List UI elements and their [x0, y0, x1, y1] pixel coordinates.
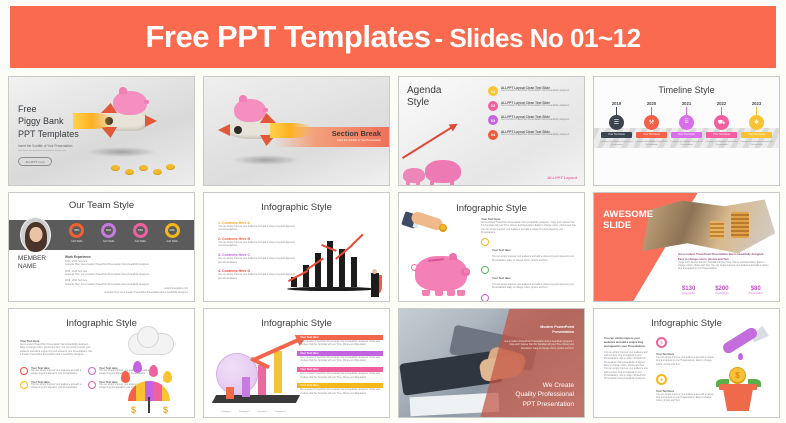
member-name-line-2: NAME	[18, 263, 46, 271]
flower-pot-rim	[719, 384, 757, 390]
ribbon-body: Get a modern PowerPoint Presentation tha…	[297, 340, 383, 349]
price-item[interactable]: $80 Presentation	[748, 286, 763, 295]
timeline-milestone[interactable]: 2022 ⛟ Your Text Here Contents title Mod…	[705, 101, 738, 147]
skill-ring: 75%	[133, 223, 148, 238]
bar-4	[274, 351, 282, 393]
bar-chart-graphic	[285, 229, 381, 291]
banner-title-sub: - Slides No 01~12	[434, 23, 640, 53]
rocket-nose-icon	[218, 124, 230, 136]
skill-value: 75%	[138, 229, 143, 232]
slide-06-title: Infographic Style	[204, 202, 389, 213]
agenda-number-badge: 02	[488, 101, 498, 111]
slide-01-title-line-3: PPT Templates	[18, 128, 79, 140]
ribbon-item[interactable]: Your Text Here Get a modern PowerPoint P…	[297, 351, 383, 365]
price-list: $130 Infographic $200 PowerPoint $80 Pre…	[672, 286, 773, 295]
bullet-item[interactable]: Your Text HereYou can simply impress you…	[481, 266, 578, 291]
skill-value: 60%	[106, 229, 111, 232]
rocket-shadow	[87, 147, 157, 157]
timeline-desc: Contents title Modern PowerPoint Present…	[705, 141, 738, 148]
cart-icon: ⛟	[714, 115, 729, 130]
gold-coin-icon: $	[729, 367, 746, 384]
template-gallery-page: Free PPT Templates - Slides No 01~12	[0, 0, 786, 423]
slide-11-canvas: Modern PowerPoint Presentation Get a mod…	[399, 309, 584, 417]
experience-entry: 2011 - 2015 Text here Contents Title | G…	[65, 261, 153, 268]
growth-arrow-icon	[402, 124, 456, 159]
contents-heading: 1. Contents Here A	[218, 221, 298, 225]
coin-icon	[153, 169, 162, 175]
slide-03-title-line-2: Style	[407, 97, 441, 109]
slide-03-canvas: Agenda Style 01 ALLPPT Layout Clean Text…	[399, 77, 584, 185]
skill-ring: 90%	[165, 223, 180, 238]
piggy-bank-small-icon	[403, 168, 425, 183]
coin-stack-icon	[731, 212, 749, 238]
bullet-heading: Your Text Here	[492, 249, 511, 252]
banner-title: Free PPT Templates - Slides No 01~12	[145, 19, 640, 55]
slide-07-canvas: Infographic Style Your Text Here Get a m…	[399, 193, 584, 301]
agenda-number-badge: 01	[488, 86, 498, 96]
circle-icon	[481, 238, 489, 246]
slide-09-canvas: Infographic Style Your Text Here Get a m…	[9, 309, 194, 417]
slide-02-subtitle: Insert the Subtitle of Your Presentation	[332, 139, 381, 142]
coin-icon	[439, 224, 447, 232]
slide-06-canvas: Infographic Style 1. Contents Here A You…	[204, 193, 389, 301]
slide-01-title-line-1: Free	[18, 103, 79, 115]
agenda-item[interactable]: 03 ALLPPT Layout Clean Text SlideGet a m…	[488, 115, 584, 125]
ribbon-item[interactable]: Your Text Here Get a modern PowerPoint P…	[297, 335, 383, 349]
skill-label: Add Skills	[133, 240, 148, 243]
bullet-body: You can simply impress your audience and…	[656, 357, 714, 367]
slide-02-title: Section Break	[332, 129, 381, 138]
skill-label: Add Skills	[69, 240, 84, 243]
slide-thumbnail-04[interactable]: Timeline Style 2019 ☰ Your Text Here Con…	[593, 76, 780, 186]
slide-09-intro: Your Text Here Get a modern PowerPoint P…	[20, 339, 93, 357]
banner-title-main: Free PPT Templates	[145, 19, 430, 54]
skill-donut[interactable]: 80% Add Skills	[69, 223, 84, 243]
slide-11-body: Get a modern PowerPoint Presentation tha…	[500, 341, 574, 351]
skill-value: 80%	[74, 229, 79, 232]
agenda-item-body: Get a modern PowerPoint Presentation tha…	[501, 119, 569, 122]
ribbon-list: Your Text Here Get a modern PowerPoint P…	[297, 335, 383, 400]
rocket-nose-icon	[145, 115, 157, 127]
bullet-item[interactable]: $ Your Text Here You can simply impress …	[656, 337, 714, 367]
allppt-logo: ALLPPT.com	[18, 157, 52, 166]
work-experience-block: Work Experience 2011 - 2015 Text here Co…	[65, 255, 153, 290]
bullet-item[interactable]: Your Text HereYou can simply impress you…	[481, 238, 578, 263]
price-label: Infographic	[682, 292, 695, 295]
slide-thumbnail-11[interactable]: Modern PowerPoint Presentation Get a mod…	[398, 308, 585, 418]
slide-03-footer: ALLPPT Layout	[547, 175, 577, 180]
timeline-label: Your Text Here	[671, 132, 702, 138]
agenda-item[interactable]: 01 ALLPPT Layout Clean Text SlideGet a m…	[488, 86, 584, 96]
circle-icon	[20, 381, 28, 389]
agenda-item-body: Get a modern PowerPoint Presentation tha…	[501, 134, 569, 137]
ribbon-item[interactable]: Your Text Here Get a modern PowerPoint P…	[297, 367, 383, 381]
slide-08-title: AWESOME SLIDE	[603, 209, 653, 232]
lead-heading: Your Text Here	[481, 217, 578, 221]
piggy-bank-icon	[113, 91, 147, 115]
skill-donut-list: 80% Add Skills 60% Add Skills 75% Add Sk…	[61, 223, 188, 243]
slide-thumbnail-01[interactable]: Free Piggy Bank PPT Templates Insert the…	[8, 76, 195, 186]
category-label: Category 1	[221, 411, 232, 413]
slide-11-heading: Modern PowerPoint Presentation	[540, 325, 574, 335]
slide-08-title-line-1: AWESOME	[603, 209, 653, 220]
slide-12-text-column: You can simply impress your audience and…	[604, 337, 648, 382]
water-drop-icon	[738, 353, 743, 360]
lead-body: Get a modern PowerPoint Presentation tha…	[481, 222, 578, 235]
timeline-year: 2021	[670, 101, 703, 106]
slide-01-canvas: Free Piggy Bank PPT Templates Insert the…	[9, 77, 194, 185]
work-experience-heading: Work Experience	[65, 255, 153, 259]
lead-body: Get a modern PowerPoint Presentation tha…	[20, 344, 93, 357]
price-label: Presentation	[748, 292, 763, 295]
skill-donut[interactable]: 90% Add Skills	[165, 223, 180, 243]
member-name-line-1: MEMBER	[18, 255, 46, 263]
rocket-flame-icon	[73, 113, 115, 129]
slide-07-body: Your Text Here Get a modern PowerPoint P…	[481, 217, 578, 302]
avatar-face	[29, 227, 42, 242]
rocket-window-icon	[234, 126, 242, 134]
agenda-item-list: 01 ALLPPT Layout Clean Text SlideGet a m…	[488, 86, 584, 144]
timeline-year: 2022	[705, 101, 738, 106]
timeline-milestone[interactable]: 2023 ❖ Your Text Here Contents title Mod…	[740, 101, 773, 147]
slide-09-title: Infographic Style	[9, 318, 194, 329]
timeline-desc: Contents title Modern PowerPoint Present…	[635, 141, 668, 148]
rocket-fin-icon	[101, 127, 117, 138]
slide-11-heading-line-2: Presentation	[540, 330, 574, 335]
briefcase-icon: ☰	[609, 115, 624, 130]
slide-03-title-line-1: Agenda	[407, 85, 441, 97]
bullet-body: You can simply impress your audience and…	[492, 284, 578, 291]
tagline-line-3: PPT Presentation	[515, 400, 574, 409]
pig-ear-icon	[239, 95, 247, 102]
slide-thumbnail-12[interactable]: Infographic Style You can simply impress…	[593, 308, 780, 418]
slide-12-canvas: Infographic Style You can simply impress…	[594, 309, 779, 417]
bullet-item[interactable]: ✸ Your Text Here You can simply impress …	[656, 374, 714, 404]
timeline-desc: Contents title Modern PowerPoint Present…	[740, 141, 773, 148]
coin-icon	[139, 165, 148, 171]
raindrop-icon	[133, 361, 142, 373]
timeline-label: Your Text Here	[741, 132, 772, 138]
tagline-line-1: We Create	[515, 381, 574, 390]
category-label: Category 4	[275, 411, 286, 413]
timeline-year: 2020	[635, 101, 668, 106]
slide-02-text-block: Section Break Insert the Subtitle of You…	[332, 129, 381, 142]
slide-10-canvas: Infographic Style Category 1 Category 2 …	[204, 309, 389, 417]
raindrop-icon	[149, 365, 158, 377]
bullet-grid: Your Text HereYou can simply impress you…	[20, 367, 150, 390]
timeline-milestone[interactable]: 2021 ⌸ Your Text Here Contents title Mod…	[670, 101, 703, 147]
lead-heading: Your Text Here	[20, 339, 93, 343]
piggy-bank-icon	[415, 256, 467, 291]
share-icon: ❖	[749, 115, 764, 130]
circle-icon	[88, 367, 96, 375]
raindrop-icon	[163, 371, 172, 383]
slide-thumbnail-08[interactable]: AWESOME SLIDE Get a modern PowerPoint Pr…	[593, 192, 780, 302]
pig-ear-icon	[119, 87, 127, 94]
slide-07-title: Infographic Style	[399, 203, 584, 214]
slide-thumbnail-09[interactable]: Infographic Style Your Text Here Get a m…	[8, 308, 195, 418]
coin-icon	[111, 165, 120, 171]
agenda-item-body: Get a modern PowerPoint Presentation tha…	[501, 105, 569, 108]
skill-value: 90%	[170, 229, 175, 232]
lead-heading: You can simply impress your audience and…	[604, 337, 648, 349]
ribbon-body: Get a modern PowerPoint Presentation tha…	[297, 372, 383, 381]
pig-tail-icon	[411, 264, 418, 271]
rocket-flame-icon	[270, 123, 314, 138]
timeline-label: Your Text Here	[636, 132, 667, 138]
server-icon: ⌸	[679, 115, 694, 130]
slide-01-subtitle: Insert the Subtitle of Your Presentation	[18, 144, 79, 148]
skill-label: Add Skills	[101, 240, 116, 243]
timeline-desc: Contents title Modern PowerPoint Present…	[600, 141, 633, 148]
slide-11-tagline: We Create Quality Professional PPT Prese…	[515, 381, 574, 409]
slide-08-canvas: AWESOME SLIDE Get a modern PowerPoint Pr…	[594, 193, 779, 301]
slide-thumbnail-07[interactable]: Infographic Style Your Text Here Get a m…	[398, 192, 585, 302]
lead-body: You can simply impress your audience and…	[604, 352, 648, 382]
ribbon-body: Get a modern PowerPoint Presentation tha…	[297, 388, 383, 397]
circle-icon	[88, 381, 96, 389]
timeline-list: 2019 ☰ Your Text Here Contents title Mod…	[600, 101, 773, 147]
skill-donut[interactable]: 75% Add Skills	[133, 223, 148, 243]
body-heading: Get a modern PowerPoint Presentation tha…	[678, 253, 771, 261]
timeline-year: 2023	[740, 101, 773, 106]
experience-entry: 2015 - 2018 Text here Contents Title | G…	[65, 271, 153, 278]
slide-thumbnail-grid: Free Piggy Bank PPT Templates Insert the…	[8, 76, 780, 418]
experience-desc: Contents Title | Get a modern PowerPoint…	[65, 264, 153, 267]
dollar-icon: $	[131, 405, 136, 415]
timeline-desc: Contents title Modern PowerPoint Present…	[670, 141, 703, 148]
coin-stack-icon	[710, 221, 724, 239]
tools-icon: ⚒	[644, 115, 659, 130]
agenda-item-body: Get a modern PowerPoint Presentation tha…	[501, 90, 569, 93]
bullet-item[interactable]: Your Text HereYou can simply impress you…	[481, 294, 578, 302]
bullet-item[interactable]: Your Text HereYou can simply impress you…	[20, 367, 82, 377]
skill-label: Add Skills	[165, 240, 180, 243]
dollar-icon: $	[163, 405, 168, 415]
slide-08-title-line-2: SLIDE	[603, 220, 653, 231]
agenda-item[interactable]: 04 ALLPPT Layout Clean Text SlideGet a m…	[488, 130, 584, 140]
slide-01-text-block: Free Piggy Bank PPT Templates Insert the…	[18, 103, 79, 166]
timeline-milestone[interactable]: 2020 ⚒ Your Text Here Contents title Mod…	[635, 101, 668, 147]
timeline-label: Your Text Here	[706, 132, 737, 138]
slide-thumbnail-02[interactable]: Section Break Insert the Subtitle of You…	[203, 76, 390, 186]
bullet-body: You can simply impress your audience and…	[656, 394, 714, 404]
dollar-circle-icon: $	[656, 337, 667, 348]
slide-04-title: Timeline Style	[594, 85, 779, 95]
slide-08-body: Get a modern PowerPoint Presentation tha…	[678, 253, 771, 271]
circle-icon	[481, 294, 489, 302]
bar-2	[242, 377, 250, 397]
star-circle-icon: ✸	[656, 374, 667, 385]
slide-10-title: Infographic Style	[204, 318, 389, 329]
experience-desc: Contents Title | Get a modern PowerPoint…	[65, 284, 153, 287]
rocket-shadow	[232, 155, 300, 165]
businessman-icon	[371, 273, 379, 297]
umbrella-handle-icon	[148, 397, 150, 413]
coin-icon	[166, 164, 175, 170]
avatar	[20, 217, 51, 253]
timeline-label: Your Text Here	[601, 132, 632, 138]
slide-04-canvas: Timeline Style 2019 ☰ Your Text Here Con…	[594, 77, 779, 185]
price-item[interactable]: $130 Infographic	[682, 286, 695, 295]
price-label: PowerPoint	[715, 292, 728, 295]
agenda-number-badge: 04	[488, 130, 498, 140]
experience-desc: Contents Title | Get a modern PowerPoint…	[65, 274, 153, 277]
bar-1	[226, 387, 234, 399]
member-name: MEMBER NAME	[18, 255, 46, 271]
circle-icon	[481, 266, 489, 274]
price-item[interactable]: $200 PowerPoint	[715, 286, 728, 295]
timeline-year: 2019	[600, 101, 633, 106]
ribbon-item[interactable]: Your Text Here Get a modern PowerPoint P…	[297, 383, 383, 397]
slide-thumbnail-06[interactable]: Infographic Style 1. Contents Here A You…	[203, 192, 390, 302]
bullet-item[interactable]: Your Text HereYou can simply impress you…	[20, 381, 82, 391]
body-text: I hope and I believe that this Template …	[678, 262, 771, 272]
slide-03-title: Agenda Style	[407, 85, 441, 109]
team-footer-note: Example Text: Get a modern PowerPoint Pr…	[105, 292, 188, 295]
flower-pot-icon	[721, 389, 755, 411]
experience-entry: 2018 - 2021 Text here Contents Title | G…	[65, 280, 153, 287]
slide-02-canvas: Section Break Insert the Subtitle of You…	[204, 77, 389, 185]
slide-05-canvas: Our Team Style 80% Add Skills 60% Add Sk…	[9, 193, 194, 301]
raindrop-icon	[121, 371, 130, 383]
bullet-body: You can simply impress your audience and…	[31, 370, 82, 377]
skill-ring: 80%	[69, 223, 84, 238]
skill-ring: 60%	[101, 223, 116, 238]
slide-05-footer-block: www.themegallery.com Example Text: Get a…	[105, 288, 188, 295]
timeline-milestone[interactable]: 2019 ☰ Your Text Here Contents title Mod…	[600, 101, 633, 147]
page-banner: Free PPT Templates - Slides No 01~12	[10, 6, 776, 68]
bullet-body: You can simply impress your audience and…	[492, 256, 578, 263]
slide-01-url: http://www.free-powerpoint-templates-des…	[18, 150, 79, 152]
slide-01-title-line-2: Piggy Bank	[18, 115, 79, 127]
slide-12-bullet-column: $ Your Text Here You can simply impress …	[656, 337, 714, 404]
slide-thumbnail-05[interactable]: Our Team Style 80% Add Skills 60% Add Sk…	[8, 192, 195, 302]
slide-thumbnail-10[interactable]: Infographic Style Category 1 Category 2 …	[203, 308, 390, 418]
agenda-item[interactable]: 02 ALLPPT Layout Clean Text SlideGet a m…	[488, 101, 584, 111]
businessman-head	[372, 269, 377, 274]
skill-donut[interactable]: 60% Add Skills	[101, 223, 116, 243]
category-label: Category 2	[239, 411, 250, 413]
category-label: Category 3	[257, 411, 268, 413]
piggy-bank-large-icon	[425, 160, 461, 183]
coin-slot-icon	[428, 258, 444, 262]
bullet-heading: Your Text Here	[492, 277, 511, 280]
ribbon-body: Get a modern PowerPoint Presentation tha…	[297, 356, 383, 365]
tagline-line-2: Quality Professional	[515, 390, 574, 399]
circle-icon	[20, 367, 28, 375]
agenda-number-badge: 03	[488, 115, 498, 125]
piggy-bank-icon	[234, 99, 266, 122]
pig-ear-icon	[449, 253, 457, 260]
bullet-body: You can simply impress your audience and…	[31, 384, 82, 391]
bar-3	[258, 365, 266, 395]
slide-thumbnail-03[interactable]: Agenda Style 01 ALLPPT Layout Clean Text…	[398, 76, 585, 186]
pig-snout-icon	[461, 268, 470, 276]
cloud-icon	[128, 333, 174, 355]
coins-photo	[642, 199, 775, 255]
slide-05-title: Our Team Style	[9, 200, 194, 211]
coin-icon	[125, 169, 134, 175]
